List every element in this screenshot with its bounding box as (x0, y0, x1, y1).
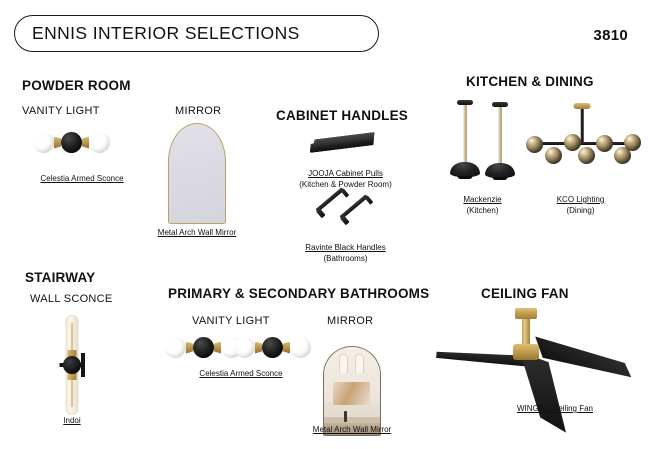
caption-kco-lighting[interactable]: KCO Lighting (528, 195, 633, 206)
chandelier-globe (624, 134, 641, 151)
sub-heading-powder-mirror: MIRROR (175, 105, 221, 117)
sconce-backplate (63, 356, 81, 374)
handle-post (364, 195, 373, 205)
note-ravinte-black-handles: (Bathrooms) (283, 254, 408, 265)
pendant-rod (499, 107, 502, 163)
sconce-globe-icon (165, 337, 186, 358)
sconce-dark-globe-icon (193, 337, 214, 358)
indoi-wall-sconce-icon (60, 315, 84, 415)
selections-board: ENNIS INTERIOR SELECTIONS 3810 POWDER RO… (0, 0, 650, 449)
chandelier-bar (528, 142, 636, 145)
chandelier-globe (545, 147, 562, 164)
sconce-arm (81, 353, 85, 377)
page-title: ENNIS INTERIOR SELECTIONS (32, 23, 300, 44)
board-title-pill: ENNIS INTERIOR SELECTIONS (14, 15, 379, 52)
sconce-brass-cone-icon (54, 137, 61, 149)
sub-heading-bath-mirror: MIRROR (327, 315, 373, 327)
celestia-armed-sconce-bath-icon (234, 337, 311, 358)
kco-lighting-chandelier-icon (528, 103, 636, 163)
sconce-filament (71, 323, 73, 351)
caption-wingbo-ceiling-fan[interactable]: WINGBO Ceiling Fan (490, 404, 620, 415)
celestia-armed-sconce-powder-icon (33, 132, 110, 153)
sconce-brass-cone-icon (186, 342, 193, 354)
project-number: 3810 (593, 27, 628, 44)
chandelier-globe (596, 135, 613, 152)
sconce-brass-cone-icon (283, 342, 290, 354)
chandelier-globe (564, 134, 581, 151)
caption-metal-arch-wall-mirror-bath[interactable]: Metal Arch Wall Mirror (292, 425, 412, 436)
sconce-globe-icon (89, 132, 110, 153)
fan-motor-housing (513, 344, 539, 360)
section-heading-stairway: STAIRWAY (25, 270, 95, 285)
mirror-reflection-artwork (333, 382, 370, 405)
mirror-reflection-sconce (355, 354, 364, 373)
sub-heading-bath-vanity-light: VANITY LIGHT (192, 315, 270, 327)
pendant-shade (450, 162, 480, 177)
jooja-cabinet-pull-icon (308, 132, 375, 156)
section-heading-cabinet-handles: CABINET HANDLES (276, 108, 408, 123)
mackenzie-pendant-icon (448, 100, 482, 184)
mackenzie-pendant-icon (483, 102, 517, 186)
sconce-globe-icon (290, 337, 311, 358)
sconce-globe-icon (33, 132, 54, 153)
fan-canopy (515, 308, 537, 319)
metal-arch-wall-mirror-powder-icon (168, 123, 226, 224)
sconce-dark-globe-icon (61, 132, 82, 153)
chandelier-stem (581, 109, 584, 142)
handle-post (340, 215, 349, 225)
pendant-shade (485, 163, 515, 178)
section-heading-kitchen-dining: KITCHEN & DINING (466, 74, 594, 89)
caption-metal-arch-wall-mirror-powder[interactable]: Metal Arch Wall Mirror (137, 228, 257, 239)
section-heading-ceiling-fan: CEILING FAN (481, 286, 569, 301)
fan-blade-lower (520, 352, 566, 436)
chandelier-globe (526, 136, 543, 153)
sconce-brass-cone-icon (255, 342, 262, 354)
sub-heading-stairway-sconce: WALL SCONCE (30, 293, 113, 305)
caption-celestia-armed-sconce-bath[interactable]: Celestia Armed Sconce (171, 369, 311, 380)
caption-indoi[interactable]: Indoi (27, 416, 117, 427)
celestia-armed-sconce-bath-icon (165, 337, 242, 358)
note-kco-lighting: (Dining) (528, 206, 633, 217)
caption-celestia-armed-sconce-powder[interactable]: Celestia Armed Sconce (22, 174, 142, 185)
mirror-reflection-faucet (344, 411, 347, 422)
sconce-globe-icon (234, 337, 255, 358)
note-mackenzie: (Kitchen) (430, 206, 535, 217)
caption-ravinte-black-handles[interactable]: Ravinte Black Handles (283, 243, 408, 254)
section-heading-bathrooms: PRIMARY & SECONDARY BATHROOMS (168, 286, 429, 301)
handle-post (316, 208, 325, 218)
section-heading-powder-room: POWDER ROOM (22, 78, 131, 93)
sconce-brass-cone-icon (82, 137, 89, 149)
chandelier-globe (578, 147, 595, 164)
pendant-rod (464, 105, 467, 162)
sconce-filament (71, 379, 73, 407)
sub-heading-powder-vanity-light: VANITY LIGHT (22, 105, 100, 117)
sconce-brass-cone-icon (214, 342, 221, 354)
fan-downrod (522, 319, 530, 346)
caption-jooja-cabinet-pulls[interactable]: JOOJA Cabinet Pulls (283, 169, 408, 180)
sconce-dark-globe-icon (262, 337, 283, 358)
mirror-reflection-sconce (339, 354, 348, 373)
caption-mackenzie[interactable]: Mackenzie (430, 195, 535, 206)
metal-arch-wall-mirror-bath-icon (323, 346, 381, 436)
